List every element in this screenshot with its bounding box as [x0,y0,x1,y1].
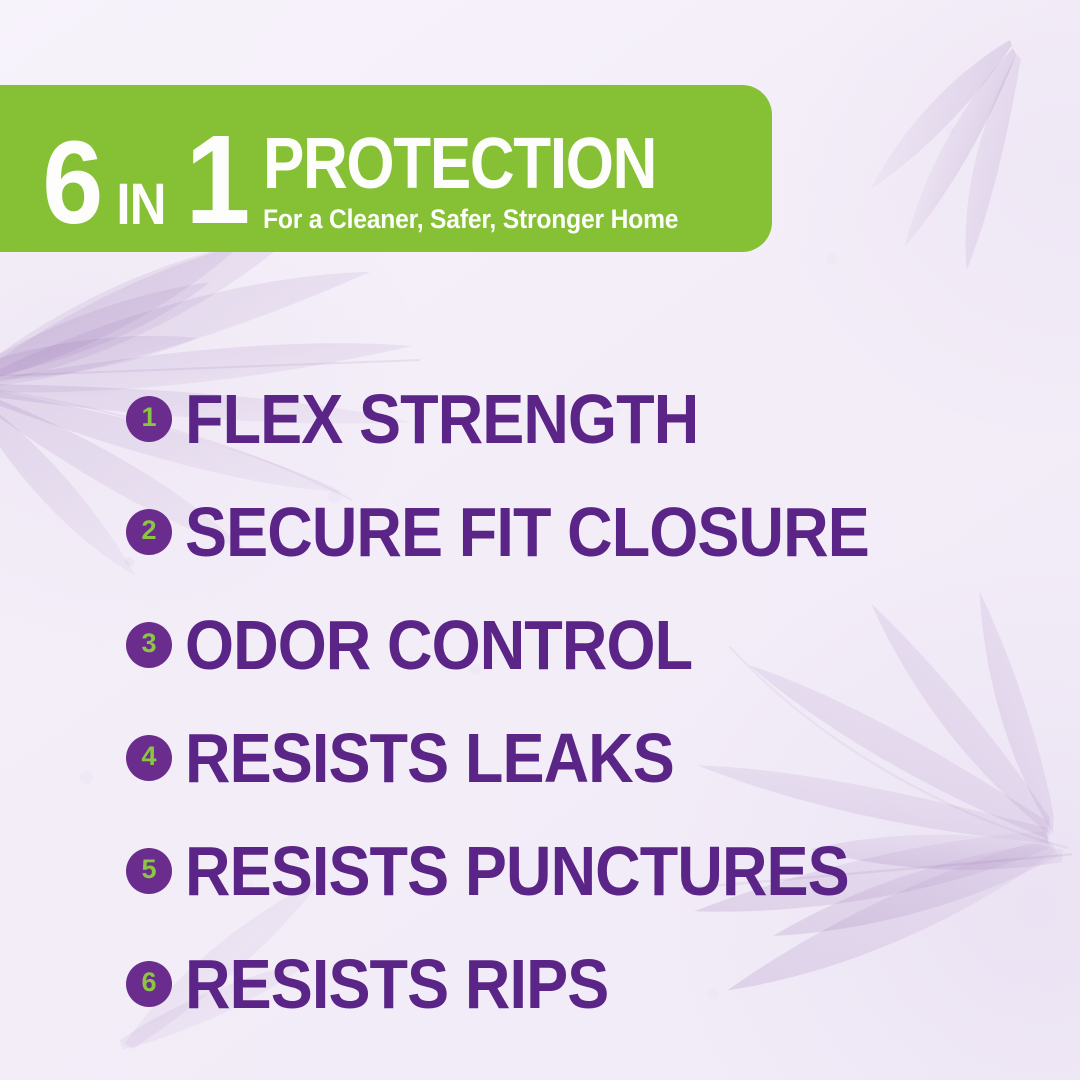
banner-headline-group: PROTECTION For a Cleaner, Safer, Stronge… [263,135,720,232]
list-item: 6 RESISTS RIPS [126,927,1026,1040]
number-badge-1: 1 [126,396,172,442]
list-item: 1 FLEX STRENGTH [126,362,1026,475]
feature-label-2: SECURE FIT CLOSURE [185,497,869,567]
number-badge-2: 2 [126,509,172,555]
banner-headline: PROTECTION [263,135,656,194]
protection-banner: 6 IN 1 PROTECTION For a Cleaner, Safer, … [0,85,772,252]
number-badge-5: 5 [126,848,172,894]
feature-list: 1 FLEX STRENGTH 2 SECURE FIT CLOSURE 3 O… [126,362,1026,1040]
banner-content: 6 IN 1 PROTECTION For a Cleaner, Safer, … [40,126,720,234]
number-badge-3: 3 [126,622,172,668]
banner-out-of-number: 1 [185,126,245,234]
feature-label-6: RESISTS RIPS [185,949,608,1019]
list-item: 2 SECURE FIT CLOSURE [126,475,1026,588]
feature-label-5: RESISTS PUNCTURES [185,836,849,906]
feature-label-1: FLEX STRENGTH [185,384,698,454]
banner-tagline: For a Cleaner, Safer, Stronger Home [263,206,678,233]
number-badge-4: 4 [126,735,172,781]
list-item: 4 RESISTS LEAKS [126,701,1026,814]
feature-label-4: RESISTS LEAKS [185,723,674,793]
feature-label-3: ODOR CONTROL [185,610,692,680]
number-badge-6: 6 [126,961,172,1007]
list-item: 3 ODOR CONTROL [126,588,1026,701]
banner-in-word: IN [116,180,165,230]
promo-poster: 6 IN 1 PROTECTION For a Cleaner, Safer, … [0,0,1080,1080]
banner-count-number: 6 [42,133,100,234]
list-item: 5 RESISTS PUNCTURES [126,814,1026,927]
